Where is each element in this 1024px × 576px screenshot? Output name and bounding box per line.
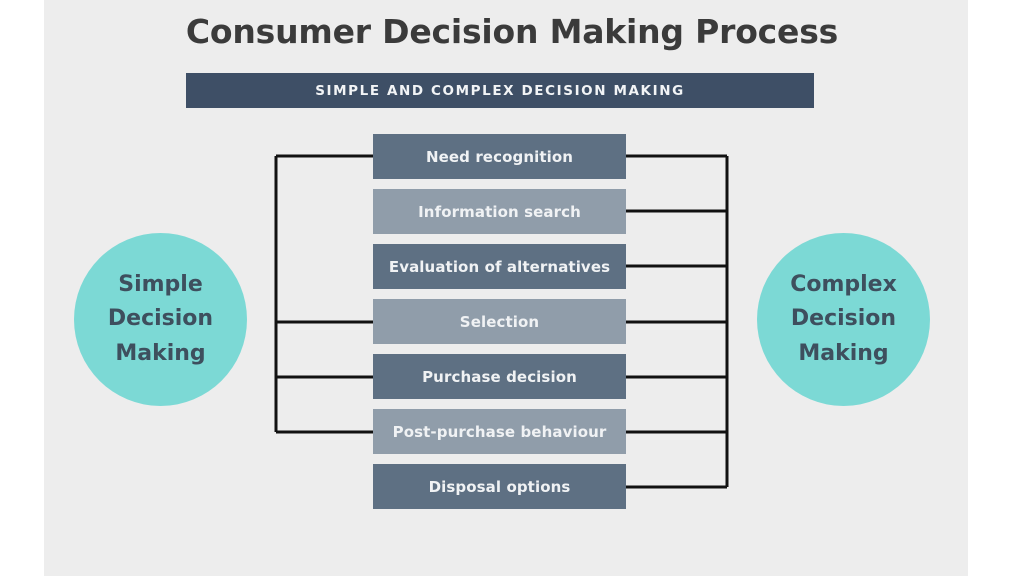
step-box-post-purchase-behaviour[interactable]: Post-purchase behaviour [373,409,626,454]
circle-simple-line-3: Making [115,341,205,366]
step-label: Selection [460,313,539,331]
step-label: Purchase decision [422,368,577,386]
circle-complex-line-1: Complex [790,272,897,297]
step-box-information-search[interactable]: Information search [373,189,626,234]
circle-simple-line-1: Simple [118,272,203,297]
circle-complex-label: Complex Decision Making [790,268,897,370]
circle-simple-decision-making[interactable]: Simple Decision Making [74,233,247,406]
page-title: Consumer Decision Making Process [0,12,1024,51]
circle-simple-line-2: Decision [108,306,213,331]
step-label: Disposal options [429,478,571,496]
subtitle-banner: SIMPLE AND COMPLEX DECISION MAKING [186,73,814,108]
step-box-selection[interactable]: Selection [373,299,626,344]
step-label: Information search [418,203,581,221]
step-box-purchase-decision[interactable]: Purchase decision [373,354,626,399]
circle-complex-decision-making[interactable]: Complex Decision Making [757,233,930,406]
step-label: Need recognition [426,148,573,166]
step-box-evaluation-of-alternatives[interactable]: Evaluation of alternatives [373,244,626,289]
step-label: Post-purchase behaviour [393,423,607,441]
circle-simple-label: Simple Decision Making [108,268,213,370]
step-box-need-recognition[interactable]: Need recognition [373,134,626,179]
circle-complex-line-2: Decision [791,306,896,331]
subtitle-text: SIMPLE AND COMPLEX DECISION MAKING [315,83,685,99]
step-label: Evaluation of alternatives [389,258,610,276]
slide-canvas: Consumer Decision Making Process SIMPLE … [0,0,1024,576]
step-box-disposal-options[interactable]: Disposal options [373,464,626,509]
circle-complex-line-3: Making [798,341,888,366]
